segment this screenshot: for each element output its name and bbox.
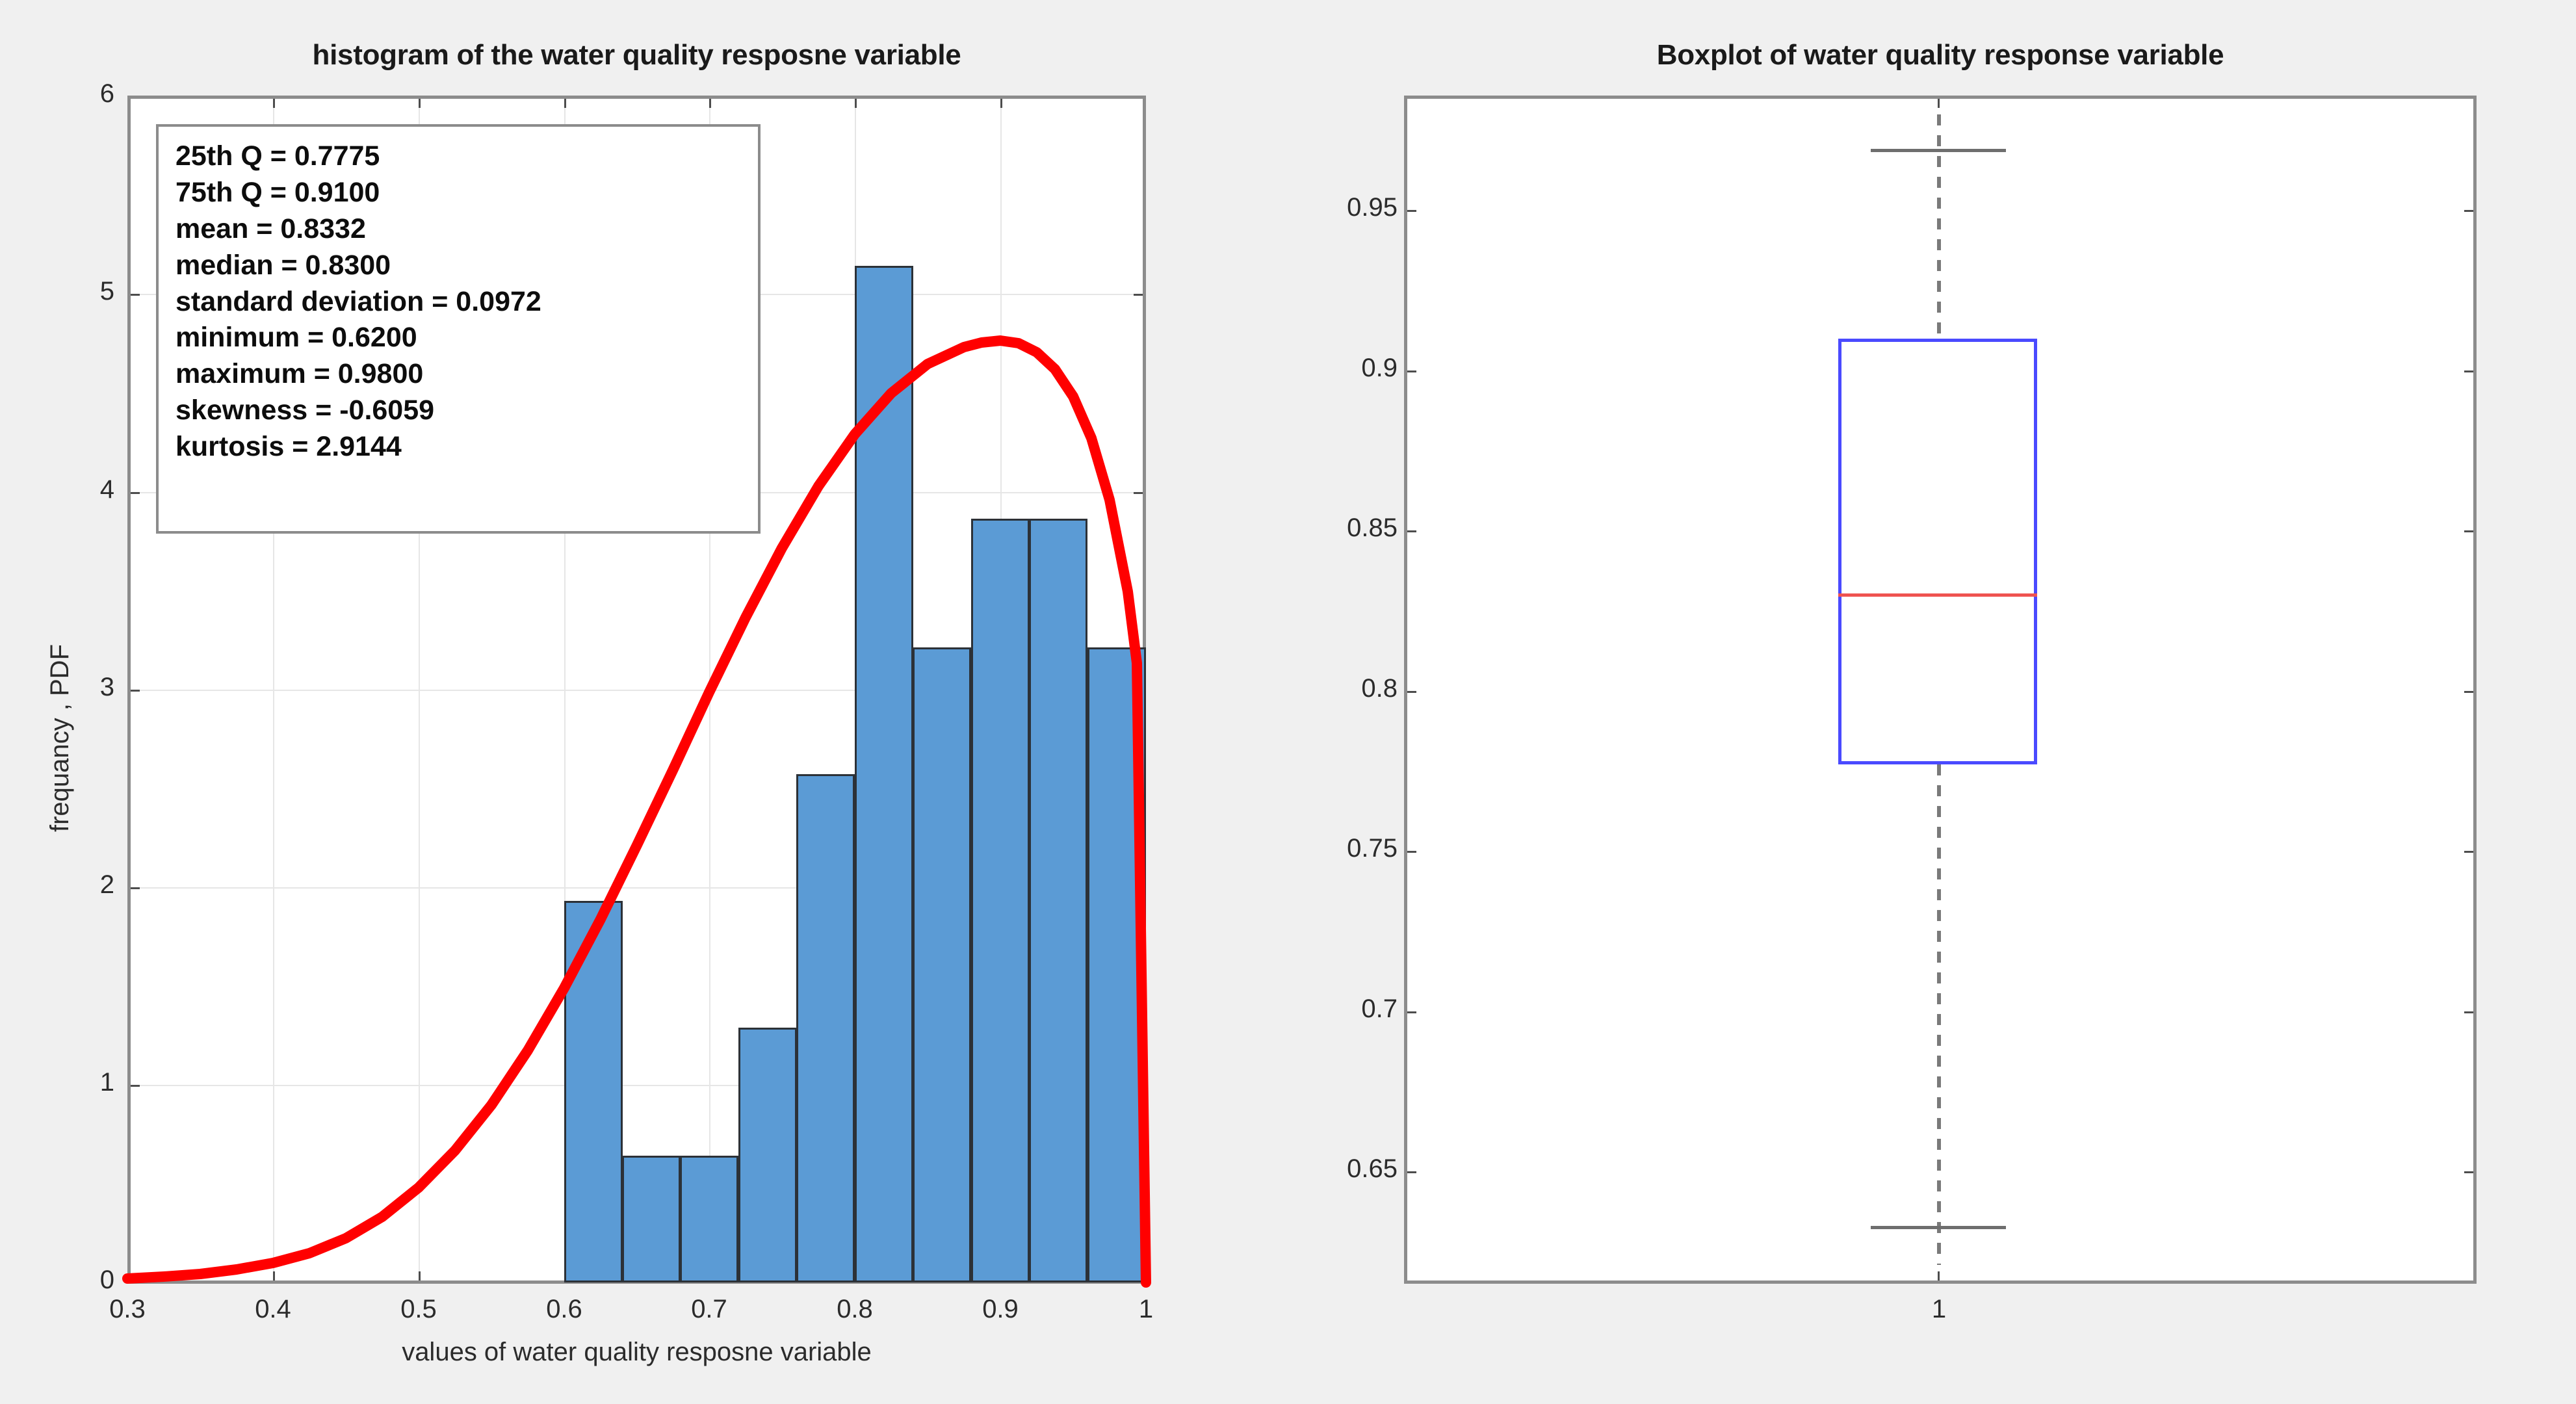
y-tick-label: 0 [62,1266,114,1295]
x-tick-label: 1 [1107,1295,1185,1324]
y-tick-label: 0.85 [1294,513,1398,543]
y-tickmark [2464,691,2473,693]
y-tick-label: 0.9 [1294,354,1398,383]
y-tick-label: 6 [62,79,114,109]
x-tick-label: 0.9 [961,1295,1039,1324]
boxplot-box [1838,339,2037,764]
boxplot-whisker-lower [1937,764,1941,1265]
y-tickmark [2464,1171,2473,1173]
y-tick-label: 5 [62,277,114,306]
y-tick-label: 0.8 [1294,674,1398,703]
x-tick-label: 0.5 [380,1295,458,1324]
histogram-panel: histogram of the water quality resposne … [0,0,1255,1404]
x-tick-label: 0.4 [234,1295,312,1324]
histogram-y-axis-label: frequancy , PDF [46,644,75,832]
y-tickmark [1407,691,1416,693]
y-tickmark [2464,530,2473,532]
stat-line: 25th Q = 0.7775 [176,138,741,175]
boxplot-cap-upper [1871,149,2006,152]
boxplot-median-line [1838,593,2037,597]
y-tickmark [2464,851,2473,853]
y-tickmark [1407,851,1416,853]
x-tick-label: 0.3 [88,1295,166,1324]
y-tick-label: 0.95 [1294,193,1398,222]
y-tickmark [2464,210,2473,212]
y-tickmark [2464,1011,2473,1013]
y-tickmark [1407,1171,1416,1173]
y-tickmark [1407,370,1416,372]
x-tick-label: 0.6 [525,1295,603,1324]
y-tick-label: 0.75 [1294,834,1398,863]
boxplot-cap-lower [1871,1226,2006,1229]
y-tick-label: 4 [62,475,114,504]
histogram-x-axis-label: values of water quality resposne variabl… [127,1338,1146,1367]
stat-line: median = 0.8300 [176,248,741,284]
x-tick-label: 1 [1900,1295,1978,1324]
stat-line: 75th Q = 0.9100 [176,175,741,211]
boxplot-panel: Boxplot of water quality response variab… [1255,0,2576,1404]
stat-line: standard deviation = 0.0972 [176,284,741,320]
stat-line: maximum = 0.9800 [176,356,741,393]
statistics-box: 25th Q = 0.7775 75th Q = 0.9100 mean = 0… [156,124,761,534]
y-tickmark [1407,530,1416,532]
stat-line: minimum = 0.6200 [176,320,741,356]
y-tickmark [1407,1011,1416,1013]
stat-line: skewness = -0.6059 [176,393,741,429]
boxplot-whisker-upper [1937,114,1941,339]
y-tick-label: 1 [62,1068,114,1097]
x-tickmark [1938,1271,1940,1280]
y-tick-label: 0.7 [1294,994,1398,1024]
matlab-figure: histogram of the water quality resposne … [0,0,2576,1404]
y-tick-label: 2 [62,870,114,900]
x-tickmark [1938,99,1940,108]
y-tickmark [2464,370,2473,372]
boxplot-title: Boxplot of water quality response variab… [1404,39,2477,71]
stat-line: kurtosis = 2.9144 [176,429,741,465]
x-tick-label: 0.8 [816,1295,894,1324]
x-tick-label: 0.7 [670,1295,748,1324]
stat-line: mean = 0.8332 [176,211,741,248]
y-tick-label: 0.65 [1294,1154,1398,1184]
y-tickmark [1407,210,1416,212]
